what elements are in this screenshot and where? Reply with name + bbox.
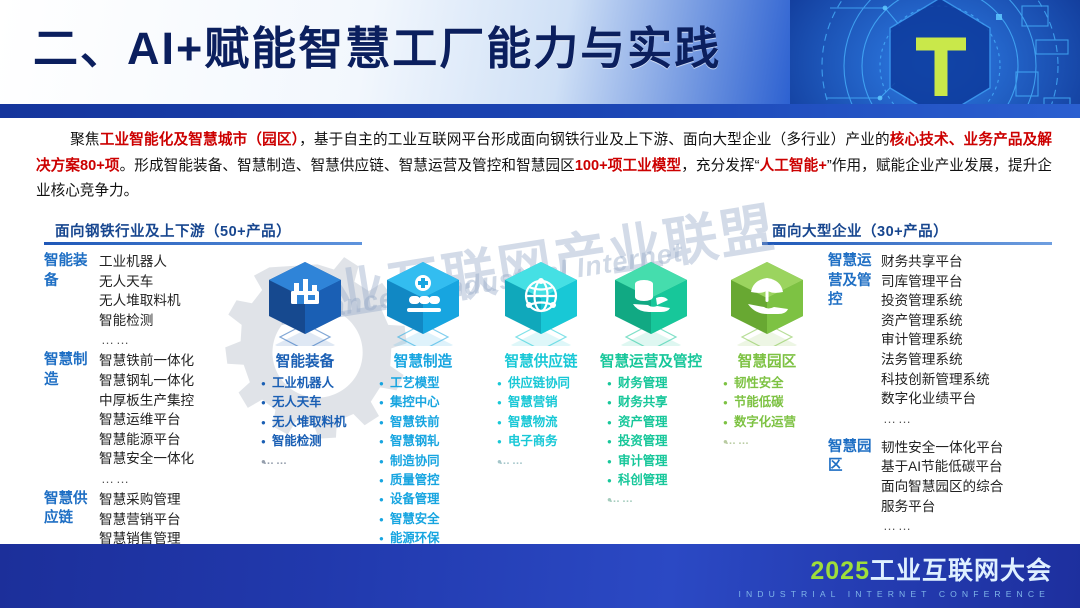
list-item: 集控中心 <box>379 393 440 412</box>
card-title: 智慧制造 <box>371 350 475 371</box>
left-group-equipment: 智能装备 工业机器人 无人天车 无人堆取料机 智能检测 …… <box>44 252 259 349</box>
list-item: 智慧钢轧一体化 <box>99 371 194 391</box>
card-smart-operations[interactable]: 智慧运营及管控 财务管理 财务共享 资产管理 投资管理 审计管理 科创管理 …… <box>599 258 703 346</box>
list-item: 智能检测 <box>99 311 181 331</box>
card-intelligent-equipment[interactable]: 智能装备 工业机器人 无人天车 无人堆取料机 智能检测 …… <box>253 258 357 346</box>
section-rule-right <box>762 242 1052 245</box>
right-group-park: 智慧园区 韧性安全一体化平台 基于AI节能低碳平台 面向智慧园区的综合 服务平台… <box>828 438 1078 535</box>
list-item: 智慧运维平台 <box>99 410 194 430</box>
list-item: 科创管理 <box>607 471 668 490</box>
list-item: 中厚板生产集控 <box>99 391 194 411</box>
list-item: 智慧能源平台 <box>99 430 194 450</box>
list-item: 制造协同 <box>379 452 440 471</box>
list-item: 基于AI节能低碳平台 <box>881 457 1003 477</box>
card-smart-park[interactable]: 智慧园区 韧性安全 节能低碳 数字化运营 …… <box>715 258 819 346</box>
slide-footer: 2025工业互联网大会 INDUSTRIAL INTERNET CONFEREN… <box>0 544 1080 608</box>
left-sidebar: 智能装备 工业机器人 无人天车 无人堆取料机 智能检测 …… 智慧制造 智慧铁前… <box>44 252 259 589</box>
conference-year: 2025 <box>810 557 870 585</box>
card-smart-manufacturing[interactable]: 智慧制造 工艺模型 集控中心 智慧铁前 智慧钢轧 制造协同 质量管控 设备管理 … <box>371 258 475 346</box>
section-rule-left <box>44 242 362 245</box>
card-items: 工艺模型 集控中心 智慧铁前 智慧钢轧 制造协同 质量管控 设备管理 智慧安全 … <box>379 374 440 568</box>
list-item: 韧性安全 <box>723 374 796 393</box>
list-item: 智慧营销 <box>497 393 570 412</box>
list-more: …… <box>261 452 346 471</box>
list-item: 智慧采购管理 <box>99 490 208 510</box>
left-group-label: 智能装备 <box>44 252 90 349</box>
list-item: 资产管理系统 <box>881 311 990 331</box>
para-text-2: ，基于自主的工业互联网平台形成面向钢铁行业及上下游、面向大型企业（多行业）产业的 <box>299 132 890 148</box>
list-item: 工艺模型 <box>379 374 440 393</box>
card-title: 智慧运营及管控 <box>599 350 703 371</box>
right-group-operations: 智慧运营及管控 财务共享平台 司库管理平台 投资管理系统 资产管理系统 审计管理… <box>828 252 1078 428</box>
card-icon-wrap <box>371 258 475 346</box>
card-items: 工业机器人 无人天车 无人堆取料机 智能检测 …… <box>261 374 346 471</box>
left-group-manufacturing: 智慧制造 智慧铁前一体化 智慧钢轧一体化 中厚板生产集控 智慧运维平台 智慧能源… <box>44 351 259 488</box>
card-items: 财务管理 财务共享 资产管理 投资管理 审计管理 科创管理 …… <box>607 374 668 510</box>
factory-robot-icon <box>253 258 357 346</box>
list-more: …… <box>99 469 194 488</box>
card-title: 智能装备 <box>253 350 357 371</box>
page-title: 二、AI+赋能智慧工厂能力与实践 <box>33 18 721 80</box>
list-item: 无人堆取料机 <box>261 413 346 432</box>
right-group-label: 智慧运营及管控 <box>828 252 872 428</box>
list-item: 无人堆取料机 <box>99 291 181 311</box>
list-more: …… <box>607 490 668 509</box>
list-item: 投资管理 <box>607 432 668 451</box>
conference-name: 2025工业互联网大会 <box>738 558 1052 585</box>
list-item: 智慧铁前 <box>379 413 440 432</box>
card-title: 智慧园区 <box>715 350 819 371</box>
card-smart-supply-chain[interactable]: 智慧供应链 供应链协同 智慧营销 智慧物流 电子商务 …… <box>489 258 593 346</box>
list-item: 财务共享平台 <box>881 252 990 272</box>
left-group-items: 智慧铁前一体化 智慧钢轧一体化 中厚板生产集控 智慧运维平台 智慧能源平台 智慧… <box>99 351 194 488</box>
conference-logo: 2025工业互联网大会 INDUSTRIAL INTERNET CONFEREN… <box>738 558 1052 599</box>
list-item: 无人天车 <box>261 393 346 412</box>
list-more: …… <box>99 330 181 349</box>
conference-name-cn: 工业互联网大会 <box>870 557 1052 585</box>
capability-cards: 智能装备 工业机器人 无人天车 无人堆取料机 智能检测 …… <box>253 258 833 558</box>
left-group-label: 智慧制造 <box>44 351 90 488</box>
list-item: 面向智慧园区的综合 <box>881 477 1003 497</box>
list-item: 节能低碳 <box>723 393 796 412</box>
card-icon-wrap <box>253 258 357 346</box>
card-items: 供应链协同 智慧营销 智慧物流 电子商务 …… <box>497 374 570 471</box>
list-item: 投资管理系统 <box>881 291 990 311</box>
list-item: 设备管理 <box>379 490 440 509</box>
list-item: 财务共享 <box>607 393 668 412</box>
list-item: 智能检测 <box>261 432 346 451</box>
right-group-label: 智慧园区 <box>828 438 872 535</box>
list-item: 服务平台 <box>881 497 1003 517</box>
list-item: 智慧安全 <box>379 510 440 529</box>
coins-hand-icon <box>599 258 703 346</box>
list-item: 韧性安全一体化平台 <box>881 438 1003 458</box>
list-item: 法务管理系统 <box>881 350 990 370</box>
list-item: 工业机器人 <box>99 252 181 272</box>
list-item: 无人天车 <box>99 272 181 292</box>
leaf-hand-icon <box>715 258 819 346</box>
gear-chain-icon <box>371 258 475 346</box>
list-item: 数字化业绩平台 <box>881 389 990 409</box>
list-more: …… <box>881 409 990 428</box>
list-item: 审计管理 <box>607 452 668 471</box>
list-item: 智慧铁前一体化 <box>99 351 194 371</box>
left-group-items: 工业机器人 无人天车 无人堆取料机 智能检测 …… <box>99 252 181 349</box>
card-title: 智慧供应链 <box>489 350 593 371</box>
list-item: 质量管控 <box>379 471 440 490</box>
list-item: 数字化运营 <box>723 413 796 432</box>
right-group-items: 韧性安全一体化平台 基于AI节能低碳平台 面向智慧园区的综合 服务平台 …… <box>881 438 1003 535</box>
list-item: 智慧营销平台 <box>99 510 208 530</box>
para-highlight-4: 人工智能+ <box>760 158 827 174</box>
list-item: 供应链协同 <box>497 374 570 393</box>
list-item: 科技创新管理系统 <box>881 370 990 390</box>
list-more: …… <box>881 516 1003 535</box>
right-group-items: 财务共享平台 司库管理平台 投资管理系统 资产管理系统 审计管理系统 法务管理系… <box>881 252 990 428</box>
slide: 二、AI+赋能智慧工厂能力与实践 聚焦工业智能化及智慧城市（园区），基于自主的工… <box>0 0 1080 608</box>
list-item: 智慧物流 <box>497 413 570 432</box>
list-item: 财务管理 <box>607 374 668 393</box>
para-text-1: 聚焦 <box>70 132 100 148</box>
card-icon-wrap <box>715 258 819 346</box>
para-text-4: ，充分发挥“ <box>681 158 759 174</box>
list-more: …… <box>723 432 796 451</box>
list-item: 智慧钢轧 <box>379 432 440 451</box>
list-more: …… <box>497 452 570 471</box>
list-item: 工业机器人 <box>261 374 346 393</box>
list-item: 电子商务 <box>497 432 570 451</box>
card-icon-wrap <box>489 258 593 346</box>
slide-header: 二、AI+赋能智慧工厂能力与实践 <box>0 0 1080 104</box>
list-item: 资产管理 <box>607 413 668 432</box>
para-highlight-3: 100+项工业模型 <box>575 158 681 174</box>
conference-name-en: INDUSTRIAL INTERNET CONFERENCE <box>738 589 1052 599</box>
tech-circuit-decoration <box>790 0 1080 104</box>
para-highlight-1: 工业智能化及智慧城市（园区） <box>100 132 299 148</box>
header-rule <box>0 104 1080 118</box>
list-item: 智慧安全一体化 <box>99 449 194 469</box>
list-item: 司库管理平台 <box>881 272 990 292</box>
para-text-3: 。形成智能装备、智慧制造、智慧供应链、智慧运营及管控和智慧园区 <box>120 158 575 174</box>
intro-paragraph: 聚焦工业智能化及智慧城市（园区），基于自主的工业互联网平台形成面向钢铁行业及上下… <box>36 128 1052 205</box>
list-item: 审计管理系统 <box>881 330 990 350</box>
network-globe-icon <box>489 258 593 346</box>
right-sidebar: 智慧运营及管控 财务共享平台 司库管理平台 投资管理系统 资产管理系统 审计管理… <box>828 252 1078 535</box>
card-items: 韧性安全 节能低碳 数字化运营 …… <box>723 374 796 452</box>
card-icon-wrap <box>599 258 703 346</box>
